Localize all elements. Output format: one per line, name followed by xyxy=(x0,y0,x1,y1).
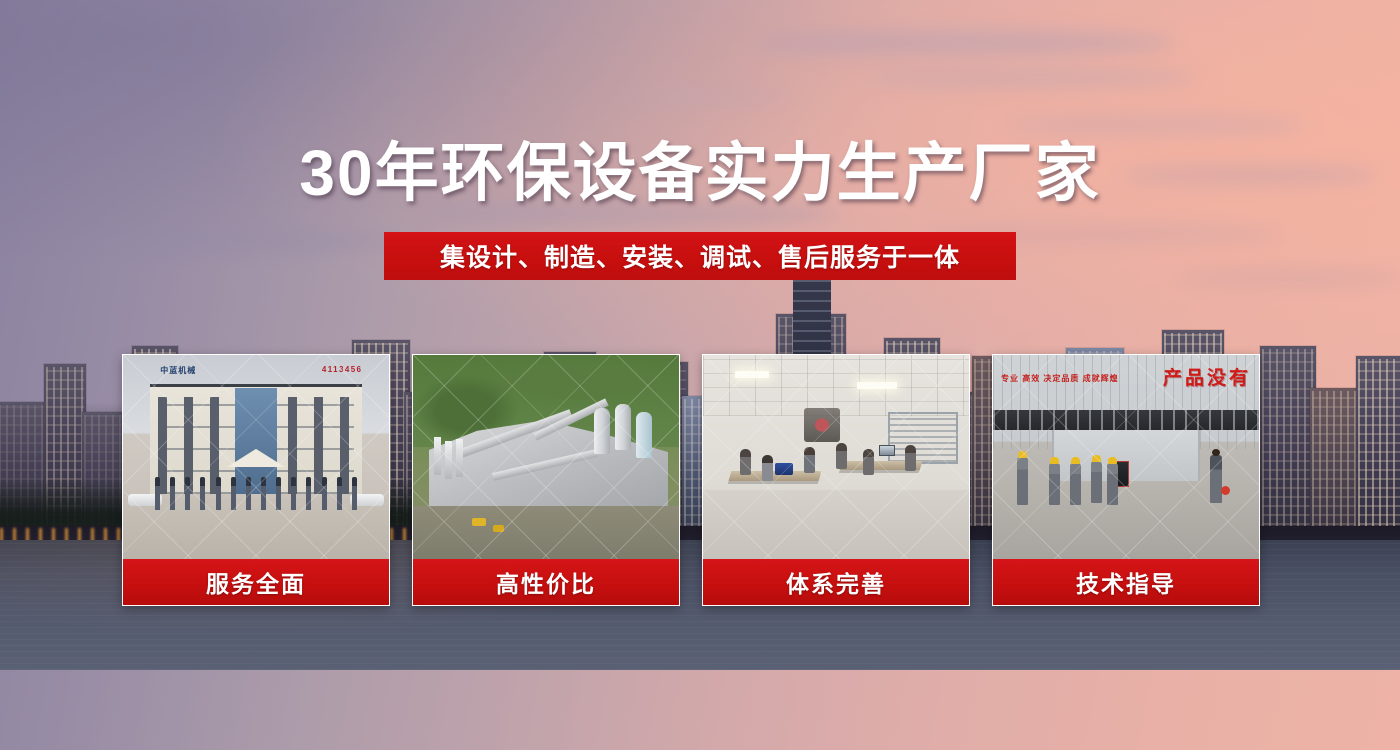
card-photo-workers-training: 专业 高效 决定品质 成就辉煌 产品没有 xyxy=(993,355,1259,559)
photo-ceiling-light xyxy=(735,371,769,378)
cloud-streak xyxy=(616,90,796,104)
feature-card[interactable]: 专业 高效 决定品质 成就辉煌 产品没有 技术指导 xyxy=(992,354,1260,606)
photo-stack xyxy=(434,437,441,475)
photo-laptop xyxy=(775,463,793,475)
card-caption-bar: 高性价比 xyxy=(413,559,679,605)
photo-staff-row xyxy=(155,477,357,510)
banner-stage: 30年环保设备实力生产厂家 集设计、制造、安装、调试、售后服务于一体 中蓝机械 … xyxy=(0,0,1400,750)
cloud-streak xyxy=(756,30,1176,56)
photo-stack xyxy=(445,441,452,479)
photo-stack xyxy=(456,439,463,477)
card-caption-bar: 技术指导 xyxy=(993,559,1259,605)
cloud-streak xyxy=(868,68,1198,88)
card-caption-bar: 体系完善 xyxy=(703,559,969,605)
card-photo-plant-aerial xyxy=(413,355,679,559)
photo-wall-slogans: 专业 高效 决定品质 成就辉煌 xyxy=(1001,373,1119,384)
photo-ceiling-light xyxy=(857,382,897,389)
photo-floor xyxy=(703,490,969,559)
photo-person xyxy=(740,449,751,475)
feature-card[interactable]: 高性价比 xyxy=(412,354,680,606)
photo-excavator xyxy=(493,525,504,532)
photo-facade-band xyxy=(993,410,1259,430)
photo-worker xyxy=(1107,463,1118,505)
photo-silo xyxy=(615,404,631,450)
photo-person xyxy=(804,447,815,473)
photo-silo xyxy=(594,408,610,454)
photo-ceiling xyxy=(703,355,969,416)
card-photo-office-building: 中蓝机械 4113456 xyxy=(123,355,389,559)
photo-person xyxy=(836,443,847,469)
cloud-streak xyxy=(56,233,436,251)
feature-card[interactable]: 中蓝机械 4113456 服务全面 xyxy=(122,354,390,606)
photo-worker xyxy=(1049,463,1060,505)
photo-silo xyxy=(636,412,652,458)
photo-wall-emblem xyxy=(804,408,840,442)
photo-worker xyxy=(1070,463,1081,505)
card-caption-text: 技术指导 xyxy=(1076,565,1176,599)
feature-card[interactable]: 体系完善 xyxy=(702,354,970,606)
card-caption-text: 服务全面 xyxy=(206,565,306,599)
card-caption-bar: 服务全面 xyxy=(123,559,389,605)
photo-factory-sign: 产品没有 xyxy=(1163,363,1251,390)
photo-person xyxy=(863,449,874,475)
photo-worker xyxy=(1017,457,1028,505)
card-caption-text: 高性价比 xyxy=(496,565,596,599)
skyline-building xyxy=(1356,356,1400,552)
photo-excavator xyxy=(472,518,486,526)
photo-person xyxy=(762,455,773,481)
photo-company-sign: 中蓝机械 xyxy=(160,365,196,376)
card-photo-office-interior xyxy=(703,355,969,559)
photo-monitor xyxy=(879,445,895,456)
page-title: 30年环保设备实力生产厂家 xyxy=(0,138,1400,208)
photo-worker xyxy=(1091,461,1102,503)
subtitle-text: 集设计、制造、安装、调试、售后服务于一体 xyxy=(440,238,960,274)
photo-phone-number: 4113456 xyxy=(322,365,363,374)
card-caption-text: 体系完善 xyxy=(786,565,886,599)
subtitle-banner: 集设计、制造、安装、调试、售后服务于一体 xyxy=(384,232,1016,280)
cloud-streak xyxy=(1008,113,1308,137)
photo-instructor xyxy=(1210,455,1222,503)
feature-card-list: 中蓝机械 4113456 服务全面 xyxy=(122,354,1278,606)
photo-ground xyxy=(413,506,679,559)
photo-person xyxy=(905,445,916,471)
photo-window-blinds xyxy=(888,412,958,464)
photo-red-helmet xyxy=(1221,486,1230,495)
